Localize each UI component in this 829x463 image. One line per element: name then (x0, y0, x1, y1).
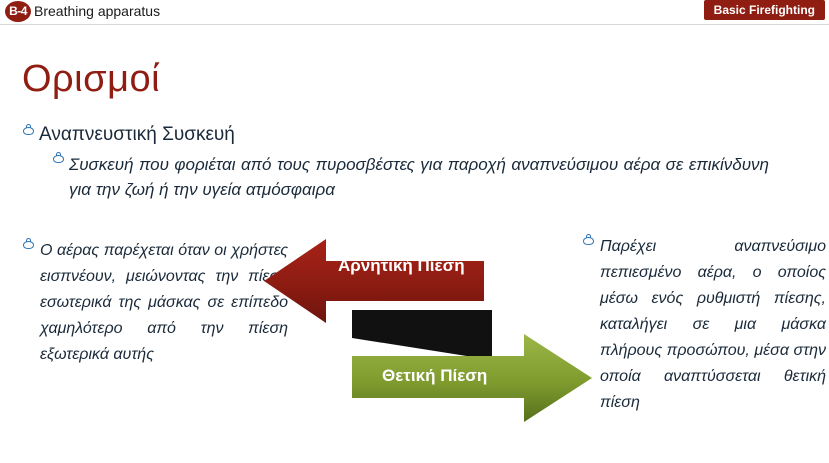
apparatus-bullet-icon (52, 152, 65, 165)
chapter-badge: B-4 (5, 1, 31, 22)
positive-pressure-label: Θετική Πίεση (382, 366, 487, 386)
negative-pressure-arrow (264, 237, 484, 325)
bullet-level1: Αναπνευστική Συσκευή (22, 124, 235, 146)
bullet-level1-label: Αναπνευστική Συσκευή (39, 124, 235, 146)
left-column: Ο αέρας παρέχεται όταν οι χρήστες εισπνέ… (22, 238, 290, 368)
page-title: Ορισμοί (22, 58, 160, 101)
apparatus-bullet-icon (22, 124, 35, 137)
apparatus-bullet-icon (22, 238, 35, 251)
bullet-level2-label: Συσκευή που φοριέται από τους πυροσβέστε… (69, 152, 769, 202)
negative-pressure-label: Αρνητική Πίεση (338, 256, 465, 276)
slide-header: B-4 Breathing apparatus Basic Firefighti… (0, 0, 829, 25)
right-column: Παρέχει αναπνεύσιμο πεπιεσμένο αέρα, ο ο… (582, 234, 828, 416)
header-title: Breathing apparatus (34, 3, 160, 19)
left-column-text: Ο αέρας παρέχεται όταν οι χρήστες εισπνέ… (40, 238, 288, 368)
brand-tag: Basic Firefighting (704, 0, 825, 20)
right-column-text: Παρέχει αναπνεύσιμο πεπιεσμένο αέρα, ο ο… (600, 234, 826, 416)
apparatus-bullet-icon (582, 234, 595, 247)
bullet-level2: Συσκευή που φοριέται από τους πυροσβέστε… (52, 152, 772, 202)
